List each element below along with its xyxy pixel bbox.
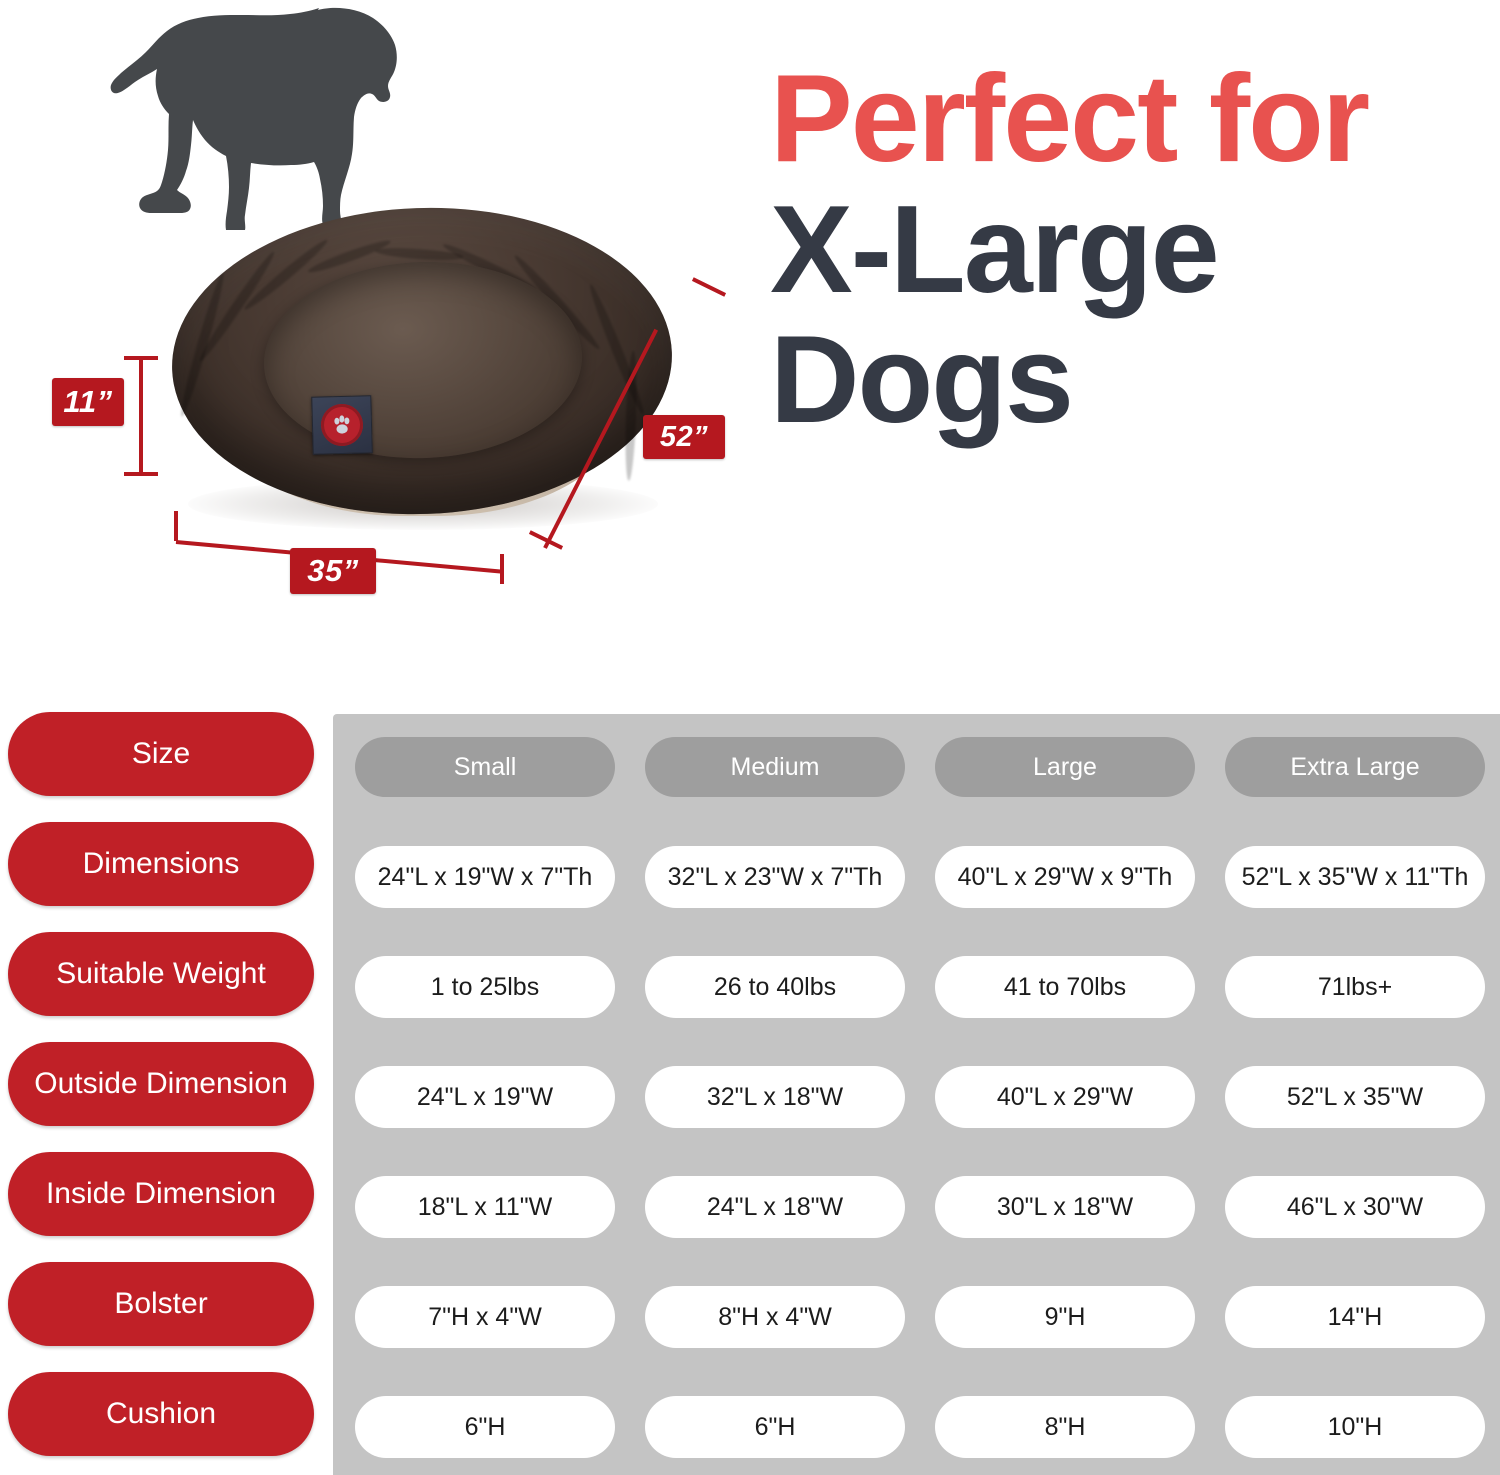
row-label-bolster: Bolster — [8, 1262, 314, 1346]
cell-cushion-large: 8"H — [935, 1396, 1195, 1458]
headline-line-2: X-Large — [770, 188, 1490, 312]
cell-inside-large: 30"L x 18"W — [935, 1176, 1195, 1238]
cell-weight-medium: 26 to 40lbs — [645, 956, 905, 1018]
dimension-cap-right — [500, 554, 504, 584]
cell-bolster-large: 9"H — [935, 1286, 1195, 1348]
cell-bolster-extra-large: 14"H — [1225, 1286, 1485, 1348]
cell-weight-small: 1 to 25lbs — [355, 956, 615, 1018]
cell-bolster-small: 7"H x 4"W — [355, 1286, 615, 1348]
dimension-cap-far — [692, 277, 726, 296]
row-label-inside-dimension: Inside Dimension — [8, 1152, 314, 1236]
spec-table-section: Size Dimensions Suitable Weight Outside … — [0, 700, 1500, 1475]
callout-badge-width: 35” — [290, 548, 376, 594]
cell-dimensions-large: 40"L x 29"W x 9"Th — [935, 846, 1195, 908]
dimension-cap-bottom — [124, 472, 158, 476]
column-header-small: Small — [355, 737, 615, 797]
cell-outside-medium: 32"L x 18"W — [645, 1066, 905, 1128]
cell-inside-extra-large: 46"L x 30"W — [1225, 1176, 1485, 1238]
headline-line-1: Perfect for — [770, 62, 1490, 176]
cell-dimensions-extra-large: 52"L x 35"W x 11"Th — [1225, 846, 1485, 908]
cell-outside-large: 40"L x 29"W — [935, 1066, 1195, 1128]
row-label-outside-dimension: Outside Dimension — [8, 1042, 314, 1126]
cell-outside-small: 24"L x 19"W — [355, 1066, 615, 1128]
column-header-extra-large: Extra Large — [1225, 737, 1485, 797]
cell-cushion-extra-large: 10"H — [1225, 1396, 1485, 1458]
row-label-cushion: Cushion — [8, 1372, 314, 1456]
row-label-suitable-weight: Suitable Weight — [8, 932, 314, 1016]
dimension-line-height — [139, 358, 143, 476]
cell-bolster-medium: 8"H x 4"W — [645, 1286, 905, 1348]
cell-dimensions-medium: 32"L x 23"W x 7"Th — [645, 846, 905, 908]
cell-cushion-medium: 6"H — [645, 1396, 905, 1458]
callout-badge-length: 52” — [643, 415, 725, 459]
cell-inside-small: 18"L x 11"W — [355, 1176, 615, 1238]
headline-line-3: Dogs — [770, 318, 1490, 442]
cell-weight-extra-large: 71lbs+ — [1225, 956, 1485, 1018]
cell-dimensions-small: 24"L x 19"W x 7"Th — [355, 846, 615, 908]
dimension-cap-top — [124, 356, 158, 360]
cell-cushion-small: 6"H — [355, 1396, 615, 1458]
row-label-size: Size — [8, 712, 314, 796]
dimension-cap-left — [174, 511, 178, 541]
paw-print-icon — [320, 403, 363, 446]
row-label-dimensions: Dimensions — [8, 822, 314, 906]
brand-tag — [311, 395, 372, 455]
column-header-medium: Medium — [645, 737, 905, 797]
column-header-large: Large — [935, 737, 1195, 797]
headline-block: Perfect for X-Large Dogs — [770, 62, 1490, 442]
hero-section: 11” 35” 52” Perfect for X-Large Dogs — [0, 0, 1500, 700]
dog-bed-photo — [168, 196, 688, 546]
callout-badge-height: 11” — [52, 378, 124, 426]
cell-weight-large: 41 to 70lbs — [935, 956, 1195, 1018]
spec-value-grid: Small Medium Large Extra Large 24"L x 19… — [333, 714, 1500, 1475]
spec-row-label-column: Size Dimensions Suitable Weight Outside … — [0, 700, 322, 1475]
cell-inside-medium: 24"L x 18"W — [645, 1176, 905, 1238]
cell-outside-extra-large: 52"L x 35"W — [1225, 1066, 1485, 1128]
